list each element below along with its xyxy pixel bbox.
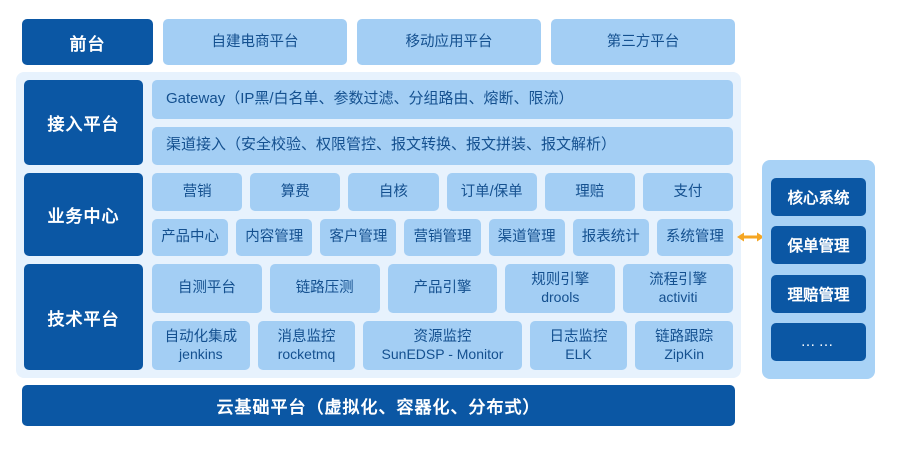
tech-card[interactable]: 日志监控 ELK <box>530 321 628 370</box>
tech-card[interactable]: 自动化集成 jenkins <box>152 321 250 370</box>
access-tier-label: 接入平台 <box>24 80 143 165</box>
card-subtitle: ELK <box>565 346 591 364</box>
card-title: 规则引擎 <box>531 271 589 289</box>
card-title: 内容管理 <box>245 228 303 246</box>
card-subtitle: activiti <box>659 289 698 307</box>
middle-tiers-container: 接入平台 Gateway（IP黑/白名单、参数过滤、分组路由、熔断、限流） 渠道… <box>16 72 741 378</box>
business-card[interactable]: 客户管理 <box>320 219 396 257</box>
tech-tier-band-2: 自动化集成 jenkins 消息监控 rocketmq 资源监控 SunEDSP… <box>152 321 733 370</box>
card-title: 资源监控 <box>414 328 472 346</box>
card-title: 移动应用平台 <box>406 33 493 51</box>
card-title: 理赔 <box>575 183 604 201</box>
tech-card[interactable]: 规则引擎 drools <box>505 264 615 313</box>
business-card[interactable]: 订单/保单 <box>447 173 537 211</box>
card-title: 流程引擎 <box>649 271 707 289</box>
business-card[interactable]: 营销管理 <box>404 219 480 257</box>
core-system-item[interactable]: 理赔管理 <box>771 275 866 313</box>
front-tier-card[interactable]: 移动应用平台 <box>357 19 541 65</box>
tech-card[interactable]: 产品引擎 <box>388 264 498 313</box>
tech-card[interactable]: 链路压测 <box>270 264 380 313</box>
card-title: 营销 <box>183 183 212 201</box>
business-card[interactable]: 理赔 <box>545 173 635 211</box>
business-card[interactable]: 报表统计 <box>573 219 649 257</box>
architecture-diagram: 前台 自建电商平台 移动应用平台 第三方平台 接入平台 Gateway（IP黑/… <box>0 0 901 452</box>
card-title: 算费 <box>281 183 310 201</box>
card-title: Gateway（IP黑/白名单、参数过滤、分组路由、熔断、限流） <box>166 90 574 109</box>
access-tier-band: 渠道接入（安全校验、权限管控、报文转换、报文拼装、报文解析） <box>152 127 733 166</box>
business-card[interactable]: 自核 <box>348 173 438 211</box>
card-title: 日志监控 <box>549 328 607 346</box>
card-subtitle: ZipKin <box>664 346 704 364</box>
card-subtitle: drools <box>541 289 579 307</box>
card-title: 链路跟踪 <box>655 328 713 346</box>
access-tier-row: 接入平台 Gateway（IP黑/白名单、参数过滤、分组路由、熔断、限流） 渠道… <box>24 80 733 165</box>
card-title: 产品中心 <box>161 228 219 246</box>
front-tier-label: 前台 <box>22 19 153 65</box>
tech-tier-row: 技术平台 自测平台 链路压测 产品引擎 <box>24 264 733 370</box>
card-title: 自核 <box>379 183 408 201</box>
card-title: 支付 <box>673 183 702 201</box>
card-title: 自建电商平台 <box>212 33 299 51</box>
tech-tier-band-1: 自测平台 链路压测 产品引擎 规则引擎 drools <box>152 264 733 313</box>
core-system-more-item[interactable]: …… <box>771 323 866 361</box>
business-tier-label: 业务中心 <box>24 173 143 256</box>
access-gateway-card[interactable]: Gateway（IP黑/白名单、参数过滤、分组路由、熔断、限流） <box>152 80 733 119</box>
card-title: 第三方平台 <box>607 33 680 51</box>
access-tier-body: Gateway（IP黑/白名单、参数过滤、分组路由、熔断、限流） 渠道接入（安全… <box>152 80 733 165</box>
tech-card[interactable]: 自测平台 <box>152 264 262 313</box>
business-card[interactable]: 渠道管理 <box>489 219 565 257</box>
card-title: 产品引擎 <box>413 279 471 297</box>
access-tier-band: Gateway（IP黑/白名单、参数过滤、分组路由、熔断、限流） <box>152 80 733 119</box>
business-tier-band-2: 产品中心 内容管理 客户管理 营销管理 渠道管理 报表统计 <box>152 219 733 257</box>
front-tier-row: 前台 自建电商平台 移动应用平台 第三方平台 <box>22 19 735 65</box>
business-card[interactable]: 内容管理 <box>236 219 312 257</box>
card-title: 订单/保单 <box>461 183 523 201</box>
business-card[interactable]: 营销 <box>152 173 242 211</box>
bidirectional-arrow-icon <box>737 228 764 246</box>
tech-card[interactable]: 消息监控 rocketmq <box>258 321 356 370</box>
card-title: 链路压测 <box>296 279 354 297</box>
front-tier-card[interactable]: 自建电商平台 <box>163 19 347 65</box>
front-tier-cards: 自建电商平台 移动应用平台 第三方平台 <box>163 19 735 65</box>
card-title: 客户管理 <box>329 228 387 246</box>
card-title: 渠道接入（安全校验、权限管控、报文转换、报文拼装、报文解析） <box>166 136 616 155</box>
core-systems-container: 核心系统 保单管理 理赔管理 …… <box>762 160 875 379</box>
access-channel-card[interactable]: 渠道接入（安全校验、权限管控、报文转换、报文拼装、报文解析） <box>152 127 733 166</box>
core-system-item[interactable]: 保单管理 <box>771 226 866 264</box>
card-title: 自动化集成 <box>165 328 238 346</box>
card-subtitle: SunEDSP - Monitor <box>382 346 504 364</box>
business-card[interactable]: 系统管理 <box>657 219 733 257</box>
business-card[interactable]: 产品中心 <box>152 219 228 257</box>
card-title: 系统管理 <box>666 228 724 246</box>
tech-tier-label: 技术平台 <box>24 264 143 370</box>
tech-card[interactable]: 流程引擎 activiti <box>623 264 733 313</box>
front-tier-card[interactable]: 第三方平台 <box>551 19 735 65</box>
business-card[interactable]: 支付 <box>643 173 733 211</box>
card-title: 自测平台 <box>178 279 236 297</box>
card-title: 报表统计 <box>582 228 640 246</box>
tech-card[interactable]: 资源监控 SunEDSP - Monitor <box>363 321 521 370</box>
tech-tier-body: 自测平台 链路压测 产品引擎 规则引擎 drools <box>152 264 733 370</box>
business-card[interactable]: 算费 <box>250 173 340 211</box>
tech-card[interactable]: 链路跟踪 ZipKin <box>635 321 733 370</box>
foundation-bar: 云基础平台（虚拟化、容器化、分布式） <box>22 385 735 426</box>
card-title: 消息监控 <box>278 328 336 346</box>
card-title: 渠道管理 <box>498 228 556 246</box>
card-subtitle: jenkins <box>179 346 223 364</box>
business-tier-row: 业务中心 营销 算费 自核 订单/保单 理赔 <box>24 173 733 256</box>
card-title: 营销管理 <box>413 228 471 246</box>
business-tier-band-1: 营销 算费 自核 订单/保单 理赔 支付 <box>152 173 733 211</box>
card-subtitle: rocketmq <box>278 346 336 364</box>
core-system-item[interactable]: 核心系统 <box>771 178 866 216</box>
business-tier-body: 营销 算费 自核 订单/保单 理赔 支付 <box>152 173 733 256</box>
